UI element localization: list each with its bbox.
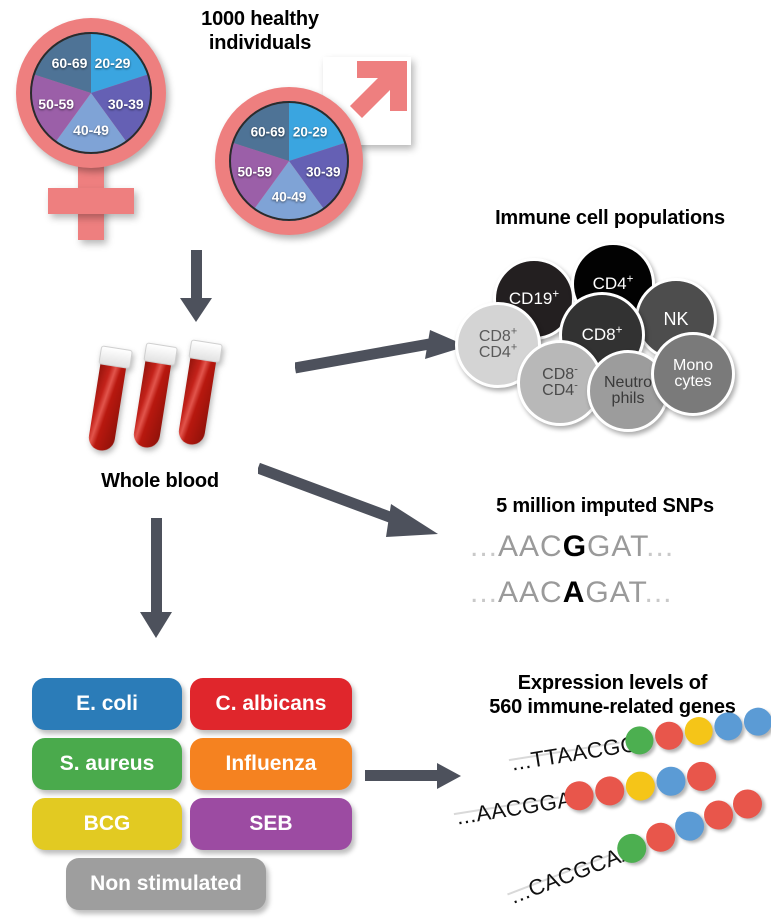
snp-sequence-row: ...AACGGAT... bbox=[470, 530, 674, 564]
expression-heading-line1: Expression levels of bbox=[460, 672, 765, 696]
immune-cell-cluster: CD19+CD4+NKCD8+CD4+CD8+CD8-CD4-Neutrophi… bbox=[455, 240, 765, 420]
gene-bead bbox=[685, 760, 718, 793]
whole-blood-label: Whole blood bbox=[60, 470, 260, 494]
blood-tube bbox=[87, 346, 129, 453]
immune-cell-label: NK bbox=[663, 310, 688, 328]
expression-strands: ...TTAACGG...AACGGAT...CACGCAA bbox=[455, 735, 771, 920]
stimulus-label: Influenza bbox=[225, 752, 316, 776]
stimulus-label: E. coli bbox=[76, 692, 138, 716]
gene-bead bbox=[671, 807, 708, 844]
gene-bead bbox=[654, 765, 687, 798]
pie-segment-label: 30-39 bbox=[108, 96, 144, 112]
immune-cell-label: CD8- bbox=[542, 367, 578, 383]
blood-tube bbox=[132, 343, 174, 450]
gene-bead bbox=[683, 715, 715, 747]
venus-crossbar bbox=[48, 188, 134, 214]
strand-sequence: ...TTAACGG bbox=[509, 731, 640, 777]
immune-cell-label: CD8+ bbox=[582, 326, 623, 343]
stimulus-pill[interactable]: E. coli bbox=[32, 678, 182, 730]
mars-symbol: 20-2930-3940-4950-5960-69 bbox=[205, 55, 420, 245]
snp-suffix: GAT bbox=[585, 576, 644, 609]
stimulus-label: S. aureus bbox=[60, 752, 155, 776]
stimulus-label: BCG bbox=[84, 812, 131, 836]
pie-segment-label: 30-39 bbox=[306, 165, 341, 180]
immune-cell-label: Neutro bbox=[604, 375, 652, 391]
snp-sequences: ...AACGGAT......AACAGAT... bbox=[470, 530, 760, 620]
stimulus-pill[interactable]: C. albicans bbox=[190, 678, 352, 730]
snp-suffix: GAT bbox=[587, 530, 646, 563]
stimulus-pill[interactable]: BCG bbox=[32, 798, 182, 850]
gene-bead bbox=[742, 706, 771, 738]
gene-bead bbox=[642, 819, 679, 856]
gene-bead bbox=[593, 774, 626, 807]
snp-prefix: AAC bbox=[498, 576, 563, 609]
blood-tube bbox=[177, 340, 219, 447]
stimuli-panel: E. coliC. albicansS. aureusInfluenzaBCGS… bbox=[32, 678, 352, 898]
pie-segment-label: 40-49 bbox=[73, 122, 109, 138]
snp-trail-ellipsis: ... bbox=[646, 530, 674, 563]
pie-segment-label: 60-69 bbox=[251, 124, 286, 139]
stimulus-label: C. albicans bbox=[216, 692, 327, 716]
immune-cell-label-line2: CD4+ bbox=[479, 345, 517, 361]
gene-bead bbox=[653, 720, 685, 752]
immune-cell-label-line2: CD4- bbox=[542, 383, 578, 399]
pie-segment-label: 20-29 bbox=[95, 55, 131, 71]
immune-heading: Immune cell populations bbox=[455, 207, 765, 231]
pie-segment-label: 50-59 bbox=[38, 96, 74, 112]
immune-cell-label-line2: cytes bbox=[673, 374, 713, 390]
stimulus-pill[interactable]: Influenza bbox=[190, 738, 352, 790]
snp-lead-ellipsis: ... bbox=[470, 530, 498, 563]
female-age-pie: 20-2930-3940-4950-5960-69 bbox=[30, 32, 152, 154]
pie-segment-label: 20-29 bbox=[293, 124, 328, 139]
pie-segment-label: 40-49 bbox=[272, 190, 307, 205]
immune-cell-label: CD19+ bbox=[509, 290, 559, 307]
snps-heading: 5 million imputed SNPs bbox=[450, 495, 760, 519]
stimulus-label: SEB bbox=[249, 812, 292, 836]
immune-cell-label: Mono bbox=[673, 358, 713, 374]
snp-variant-base: G bbox=[563, 530, 587, 563]
stimulus-label: Non stimulated bbox=[90, 872, 242, 896]
male-age-pie: 20-2930-3940-4950-5960-69 bbox=[229, 101, 349, 221]
gene-bead bbox=[700, 796, 737, 833]
blood-tubes bbox=[95, 337, 265, 457]
snp-variant-base: A bbox=[563, 576, 586, 609]
expression-heading: Expression levels of 560 immune-related … bbox=[460, 672, 765, 719]
immune-cell-label-line2: phils bbox=[604, 391, 652, 407]
immune-cell-label: CD4+ bbox=[593, 275, 634, 292]
snp-prefix: AAC bbox=[498, 530, 563, 563]
pie-segment-label: 50-59 bbox=[237, 165, 272, 180]
snp-trail-ellipsis: ... bbox=[645, 576, 673, 609]
pie-segment-label: 60-69 bbox=[52, 55, 88, 71]
snp-lead-ellipsis: ... bbox=[470, 576, 498, 609]
immune-cell-circle: Monocytes bbox=[651, 332, 735, 416]
venus-symbol: 20-2930-3940-4950-5960-69 bbox=[8, 10, 198, 240]
gene-bead bbox=[712, 710, 744, 742]
snp-sequence-row: ...AACAGAT... bbox=[470, 576, 673, 610]
stimulus-pill[interactable]: S. aureus bbox=[32, 738, 182, 790]
stimulus-pill[interactable]: SEB bbox=[190, 798, 352, 850]
stimulus-pill[interactable]: Non stimulated bbox=[66, 858, 266, 910]
gene-bead bbox=[624, 769, 657, 802]
